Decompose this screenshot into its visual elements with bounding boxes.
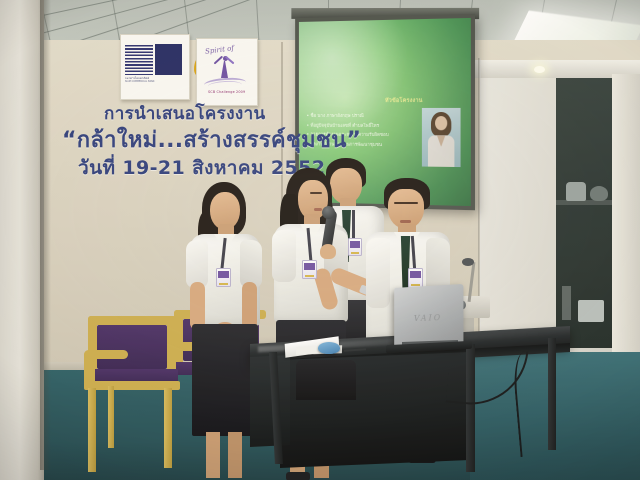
alcove-equipment-3 <box>578 300 604 322</box>
sleeve-left <box>272 230 296 282</box>
wooden-chair-1 <box>84 316 180 472</box>
table-leg-right <box>548 338 556 450</box>
scb-logo-english: SIAM COMMERCIAL BANK <box>125 80 182 83</box>
sleeve-right <box>240 240 262 288</box>
id-badge <box>302 260 317 279</box>
left-pillar <box>0 0 44 480</box>
skirt <box>192 324 258 436</box>
doorway-panel <box>612 74 640 374</box>
alcove-shelf <box>556 200 616 205</box>
challenge-caption: SCB Challenge 2009 <box>208 90 245 94</box>
shoe <box>286 472 310 480</box>
id-badge <box>408 268 423 288</box>
id-badge <box>216 268 231 287</box>
chair-back-cushion <box>97 325 167 369</box>
challenge-figure-icon <box>216 56 232 79</box>
sleeve-left <box>186 240 208 288</box>
face <box>388 189 424 229</box>
eyebrow <box>310 192 322 194</box>
scb-challenge-logo: Spirit of SCB Challenge 2009 <box>196 38 258 106</box>
scb-emblem-box <box>155 44 182 75</box>
alcove-equipment-1 <box>566 182 586 201</box>
wall-sign-line-2: “กล้าใหม่...สร้างสรรค์ชุมชน” <box>62 122 361 157</box>
laptop-brand-label: VAIO <box>414 313 442 323</box>
mouth <box>314 208 322 211</box>
sleeve-left <box>366 238 390 308</box>
scb-logo-text: ธนาคารไทยพาณิชย์ SIAM COMMERCIAL BANK <box>125 77 182 84</box>
mouth <box>400 220 411 223</box>
presentation-room-photo: หัวข้อโครงงาน • ชื่อ นาง ภาษาอังกฤษ ปราณ… <box>0 0 640 480</box>
scb-stripe-pattern <box>125 45 153 75</box>
microphone-stand-head <box>462 258 474 266</box>
hand-holding-microphone <box>320 244 336 259</box>
leg-right <box>228 432 242 478</box>
alcove-equipment-2 <box>590 186 608 201</box>
computer-mouse <box>318 342 340 354</box>
arm-right <box>242 282 257 330</box>
downlight-icon <box>534 66 545 73</box>
arm-left <box>190 282 205 330</box>
pillar-shadow <box>40 0 51 470</box>
seated-person-partial <box>296 360 356 400</box>
leg-left <box>206 432 220 478</box>
laptop: VAIO <box>394 284 463 349</box>
challenge-script-text: Spirit of <box>205 44 235 55</box>
scb-bank-logo: ธนาคารไทยพาณิชย์ SIAM COMMERCIAL BANK <box>120 34 190 100</box>
alcove-equipment-4 <box>562 286 571 320</box>
